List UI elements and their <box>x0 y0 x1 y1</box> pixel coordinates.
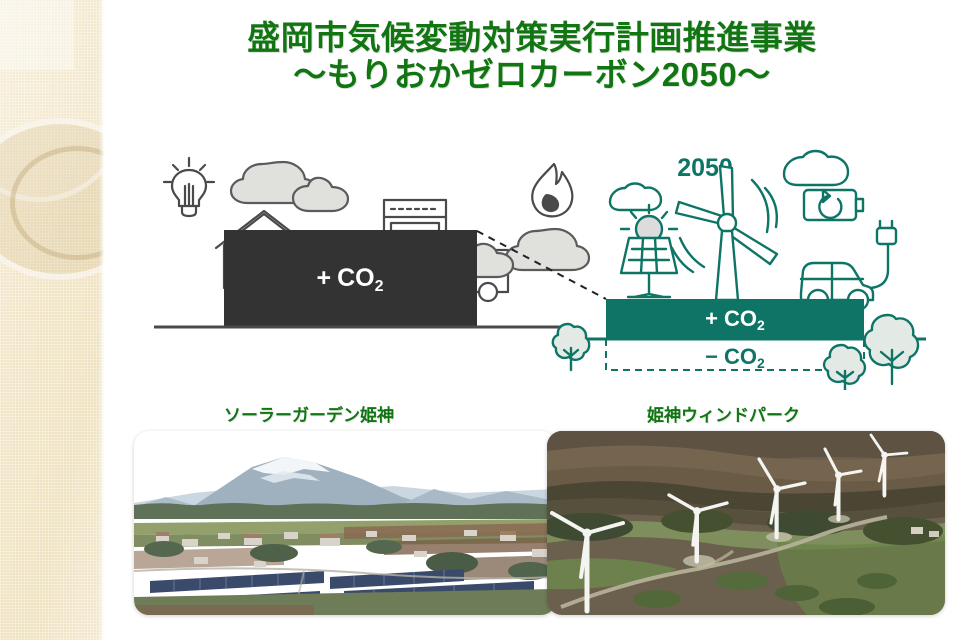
slide-canvas: 盛岡市気候変動対策実行計画推進事業 ～もりおかゼロカーボン2050～ .gk {… <box>0 0 960 640</box>
tree-icon <box>865 315 918 384</box>
co2-absorption-label: −CO2 <box>705 344 765 371</box>
decorative-sidebar <box>0 0 104 640</box>
electric-car-icon <box>801 221 896 310</box>
cloud-icon <box>610 184 661 211</box>
carbon-neutrality-infographic: .gk { stroke:#4a4a4a; stroke-width:2.2; … <box>140 128 930 390</box>
title-line-1: 盛岡市気候変動対策実行計画推進事業 <box>104 20 960 57</box>
battery-recharge-icon <box>804 190 863 220</box>
tree-icon <box>824 345 865 390</box>
title-line-2: ～もりおかゼロカーボン2050～ <box>104 57 960 94</box>
photo-solar-garden-himekami <box>134 431 556 615</box>
photo-himekami-wind-park <box>547 431 945 615</box>
flame-icon <box>532 164 572 216</box>
solar-panel-icon <box>621 205 677 297</box>
co2-block-label-current: +CO2 <box>316 264 383 295</box>
page-title: 盛岡市気候変動対策実行計画推進事業 ～もりおかゼロカーボン2050～ <box>104 20 960 94</box>
wind-turbine-icon <box>672 166 777 300</box>
cloud-icon <box>784 151 848 185</box>
caption-solar-garden: ソーラーガーデン姫神 <box>224 401 394 426</box>
caption-wind-park: 姫神ウィンドパーク <box>647 401 800 426</box>
co2-block-label-2050: +CO2 <box>705 306 765 333</box>
tree-icon <box>553 324 589 370</box>
lightbulb-icon <box>164 158 214 216</box>
cloud-icon <box>231 162 348 211</box>
sidebar-edge-highlight <box>99 0 104 640</box>
